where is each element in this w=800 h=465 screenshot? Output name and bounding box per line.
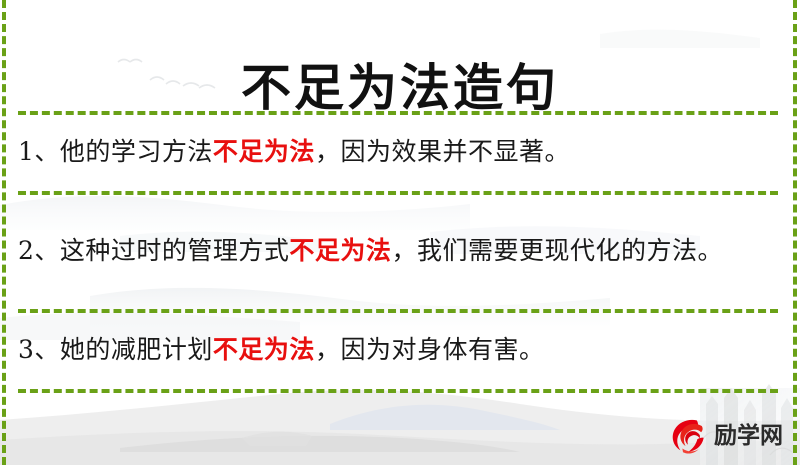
site-logo-text: 励学网: [714, 416, 783, 456]
separator-line-3: [18, 309, 778, 313]
separator-line-4: [18, 389, 778, 393]
sentence-suffix-1: ，因为效果并不显著。: [315, 137, 570, 166]
list-item: 2、这种过时的管理方式不足为法，我们需要更现代化的方法。: [0, 191, 800, 309]
sentence-suffix-3: ，因为对身体有害。: [315, 335, 545, 364]
sentence-text-1: 1、他的学习方法不足为法，因为效果并不显著。: [18, 130, 772, 173]
sentence-number-2: 2、: [18, 236, 60, 265]
separator-line-1: [18, 111, 778, 115]
left-dashed-rail: [2, 0, 6, 465]
sentence-prefix-1: 他的学习方法: [60, 137, 213, 166]
list-item: 1、他的学习方法不足为法，因为效果并不显著。: [0, 111, 800, 191]
sentence-prefix-3: 她的减肥计划: [60, 335, 213, 364]
sentence-number-1: 1、: [18, 137, 60, 166]
list-item: 3、她的减肥计划不足为法，因为对身体有害。: [0, 309, 800, 389]
idiom-highlight-3: 不足为法: [213, 335, 315, 364]
right-dashed-rail: [793, 0, 797, 465]
site-logo[interactable]: 励学网: [668, 414, 783, 458]
sentence-prefix-2: 这种过时的管理方式: [60, 236, 290, 265]
sentence-text-3: 3、她的减肥计划不足为法，因为对身体有害。: [18, 328, 772, 371]
idiom-highlight-2: 不足为法: [289, 236, 391, 265]
sentence-number-3: 3、: [18, 335, 60, 364]
sentence-suffix-2: ，我们需要更现代化的方法。: [391, 236, 723, 265]
idiom-highlight-1: 不足为法: [213, 137, 315, 166]
sentence-list: 1、他的学习方法不足为法，因为效果并不显著。 2、这种过时的管理方式不足为法，我…: [0, 111, 800, 389]
sentence-text-2: 2、这种过时的管理方式不足为法，我们需要更现代化的方法。: [18, 229, 772, 272]
red-swirl-flame-icon: [668, 416, 708, 456]
worksheet-page: 不足为法造句 1、他的学习方法不足为法，因为效果并不显著。 2、这种过时的管理方…: [0, 0, 800, 465]
separator-line-2: [18, 191, 778, 195]
